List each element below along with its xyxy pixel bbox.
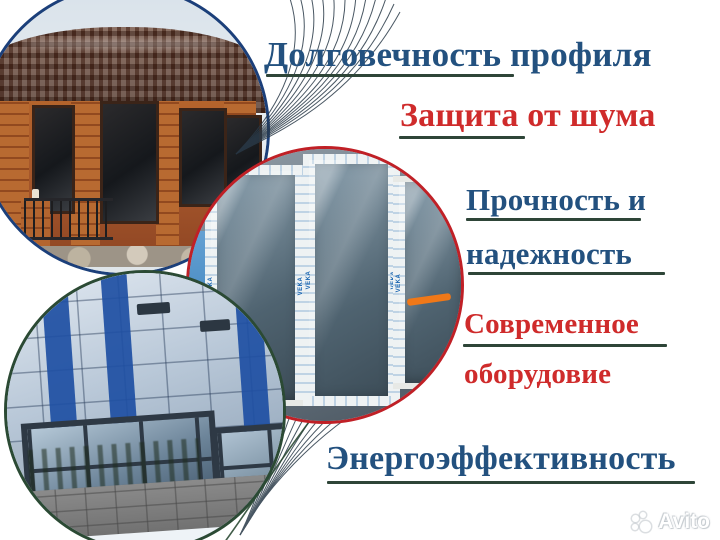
heading-prochnost: Прочность и: [466, 182, 646, 218]
avito-dots-icon: [632, 512, 654, 532]
heading-rule: [399, 136, 525, 139]
heading-rule: [266, 74, 514, 77]
heading-oborudovie: оборудовие: [464, 358, 611, 391]
pvc-window-unit: [393, 176, 464, 389]
heading-rule: [463, 344, 667, 347]
heading-sovremennoe: Современное: [464, 308, 639, 341]
heading-dolgovechnost: Долговечность профиля: [264, 35, 652, 75]
heading-rule: [468, 272, 665, 275]
facade-photo: [7, 273, 283, 540]
glass-reflection: [399, 182, 464, 383]
vent-grille: [200, 319, 231, 332]
heading-rule: [327, 481, 695, 484]
banner-canvas: Долговечность профиля Защита от шума Про…: [0, 0, 720, 540]
glass-reflection: [309, 160, 393, 399]
avito-watermark: Avito: [632, 510, 710, 534]
heading-rule: [466, 218, 641, 221]
roof-highlight: [22, 40, 233, 49]
heading-nadezhnost: надежность: [466, 236, 632, 272]
log-column: [71, 101, 100, 267]
heading-zashchita-ot-shuma: Защита от шума: [400, 97, 656, 135]
balcony-railing: [24, 198, 113, 240]
pvc-window-unit: [303, 154, 399, 405]
avito-wordmark: Avito: [658, 510, 710, 534]
heading-energoeffektivnost: Энергоэффективность: [326, 440, 676, 478]
photo-circle-facade: [4, 270, 286, 540]
log-column: [156, 101, 180, 267]
